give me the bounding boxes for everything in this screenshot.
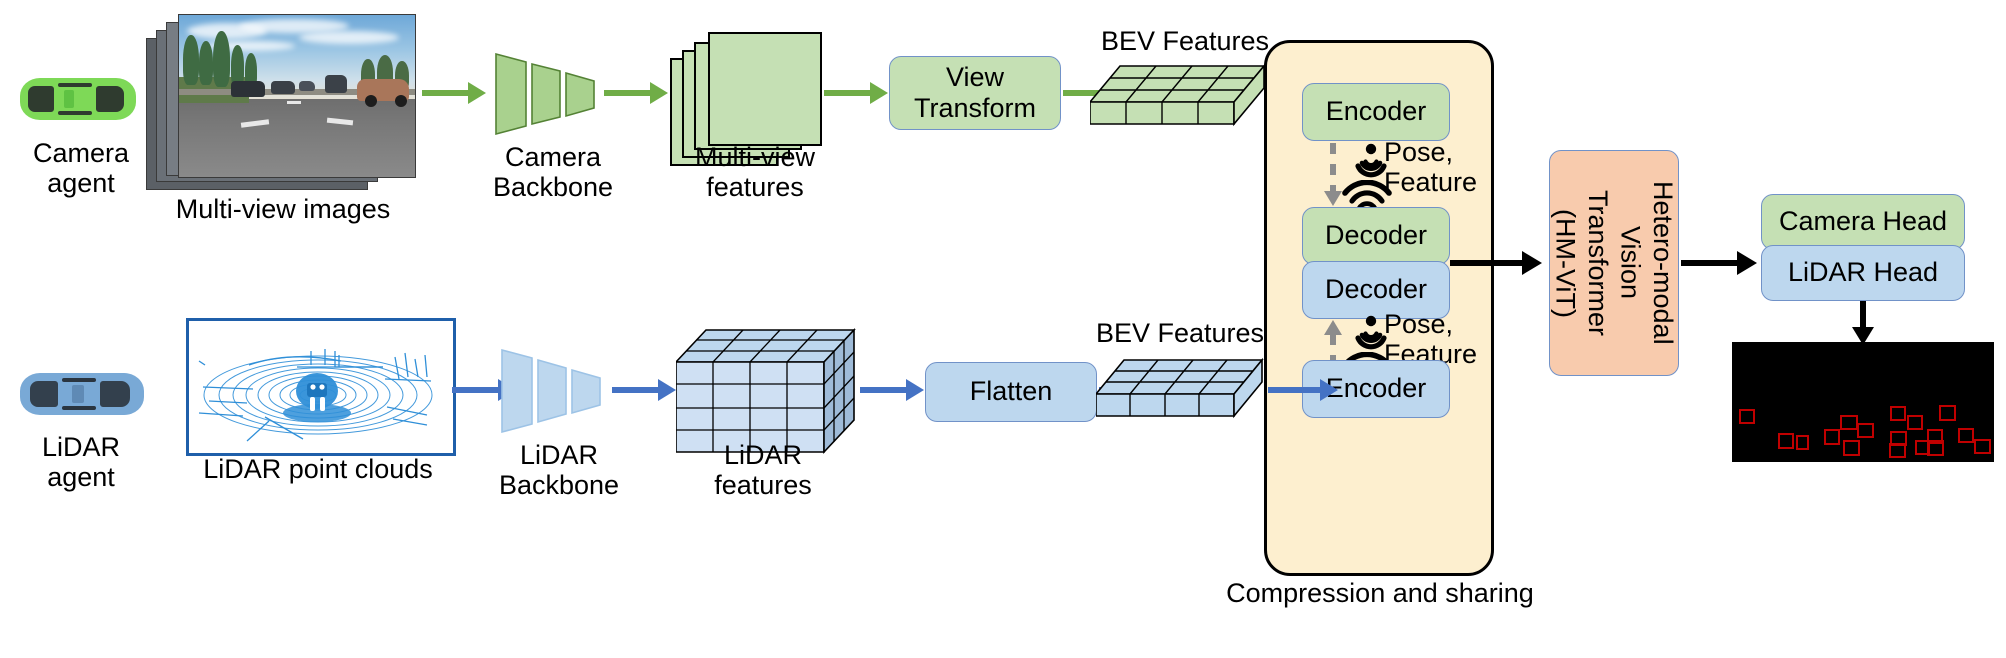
camera-backbone-icon [494, 52, 612, 136]
share-label-top: Pose, Feature [1384, 137, 1508, 197]
lidar-agent-icon [20, 368, 144, 420]
detection-box [1796, 435, 1809, 450]
camera-head-box[interactable]: Camera Head [1761, 194, 1965, 250]
detection-box [1824, 429, 1840, 446]
hm-vit-fusion-box[interactable]: Hetero-modal Vision Transformer (HM-ViT) [1549, 150, 1679, 376]
detection-box [1958, 428, 1974, 443]
multi-view-features-caption: Multi-view features [660, 142, 850, 202]
lidar-backbone-caption: LiDAR Backbone [484, 440, 634, 500]
lidar-head-box[interactable]: LiDAR Head [1761, 245, 1965, 301]
camera-bev-features-caption: BEV Features [1075, 26, 1295, 56]
camera-encoder-box[interactable]: Encoder [1302, 83, 1450, 141]
detection-box [1939, 405, 1956, 422]
camera-bev-slab [1090, 62, 1280, 138]
detection-box [1889, 443, 1906, 458]
compression-and-sharing-caption: Compression and sharing [1200, 578, 1560, 608]
multi-view-images-caption: Multi-view images [148, 194, 418, 224]
multi-view-image-front [178, 14, 416, 178]
camera-decoder-box[interactable]: Decoder [1302, 207, 1450, 265]
lidar-backbone-icon [500, 348, 618, 434]
lidar-features-caption: LiDAR features [668, 440, 858, 500]
detection-box [1840, 415, 1858, 430]
detection-box [1907, 415, 1923, 430]
detection-box [1843, 440, 1860, 455]
hm-vit-label: Hetero-modal Vision Transformer (HM-ViT) [1549, 151, 1679, 375]
lidar-point-clouds-caption: LiDAR point clouds [148, 454, 488, 484]
camera-agent-label: Camera agent [6, 138, 156, 198]
detection-box [1927, 440, 1944, 455]
flatten-box[interactable]: Flatten [925, 362, 1097, 422]
lidar-agent-label: LiDAR agent [6, 432, 156, 492]
camera-share-dashed-arrow [1330, 143, 1338, 205]
detection-box [1739, 409, 1755, 423]
detection-box [1890, 406, 1906, 421]
detection-output-panel [1732, 342, 1994, 462]
lidar-features-cube [676, 326, 862, 456]
detection-box [1778, 433, 1794, 448]
view-transform-box[interactable]: View Transform [889, 56, 1061, 130]
lidar-point-cloud-panel [186, 318, 456, 456]
camera-backbone-caption: Camera Backbone [478, 142, 628, 202]
multi-view-image-stack [146, 14, 416, 190]
detection-box [1974, 439, 1991, 454]
detection-box [1857, 423, 1874, 438]
lidar-bev-slab [1096, 356, 1276, 432]
camera-agent-icon [20, 74, 136, 124]
lidar-bev-features-caption: BEV Features [1070, 318, 1290, 348]
